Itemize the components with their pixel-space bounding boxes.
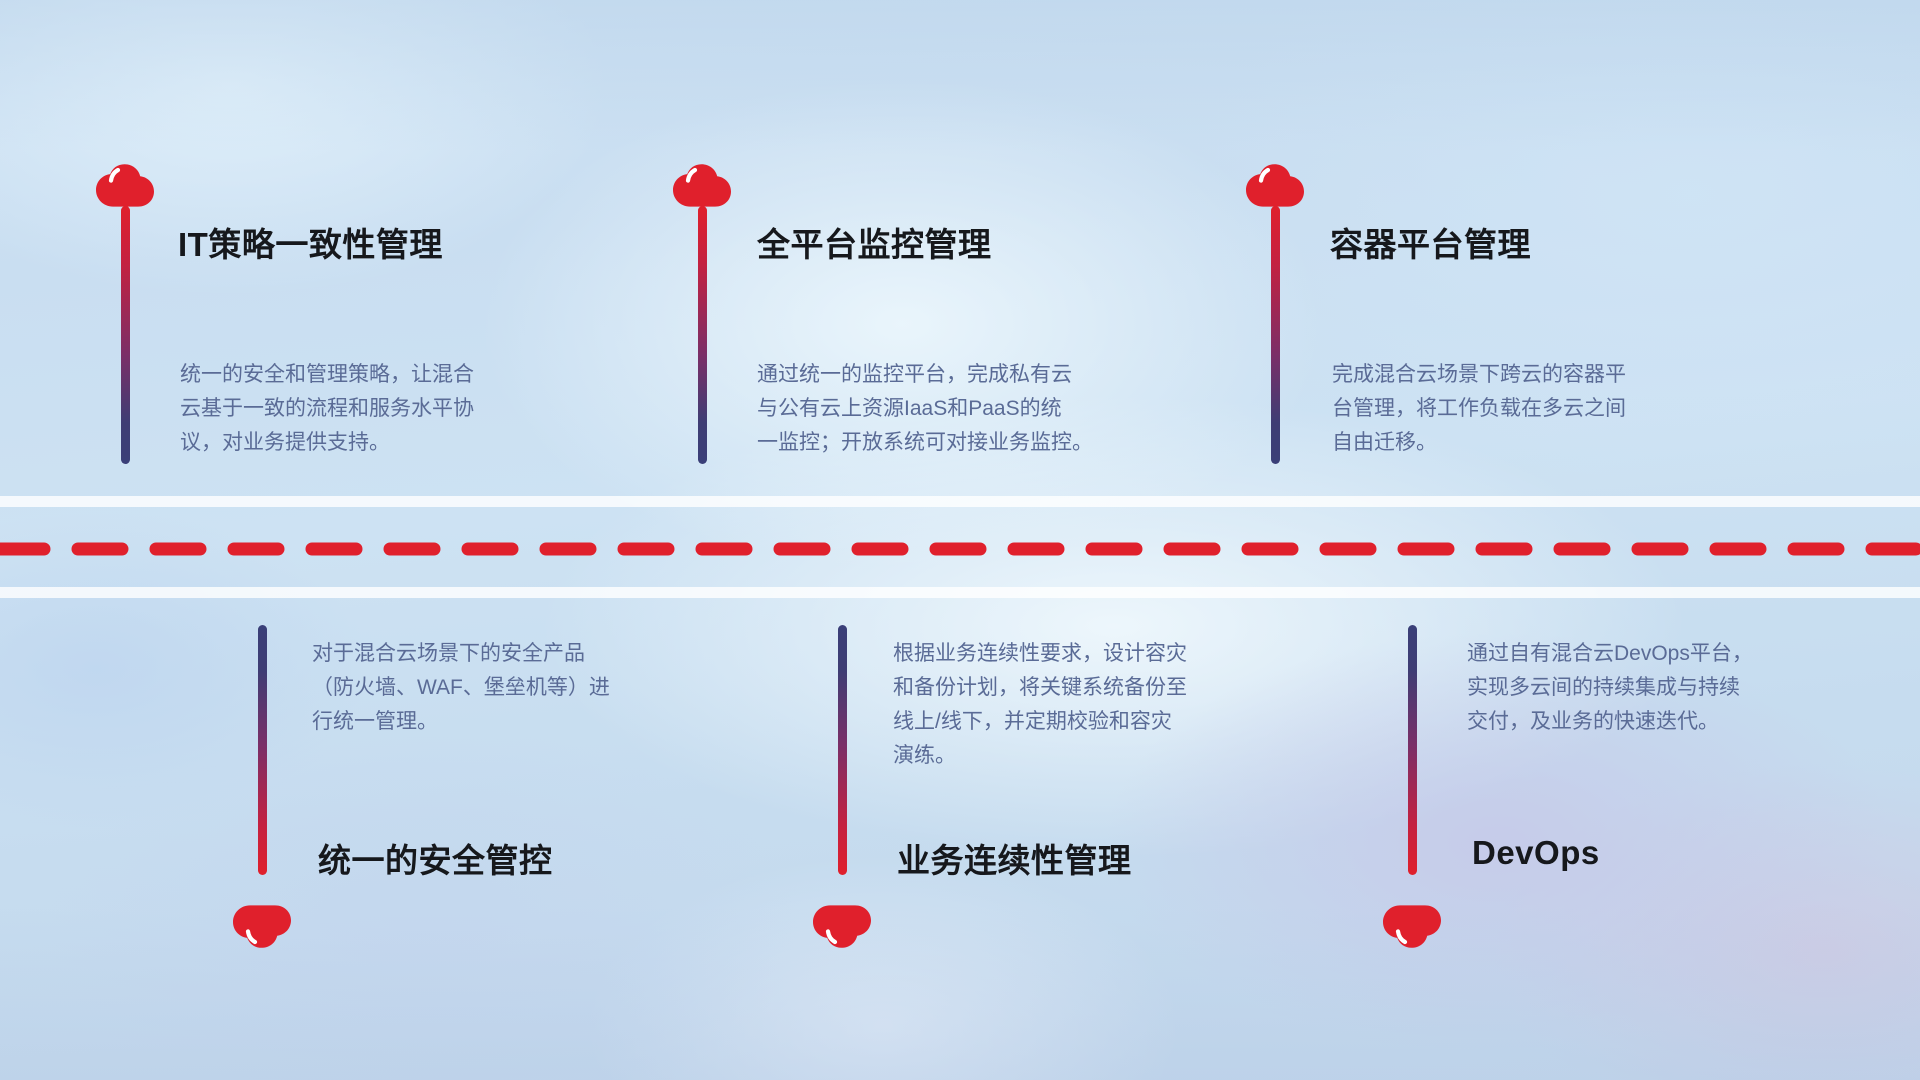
bottom-body-3: 通过自有混合云DevOps平台， 实现多云间的持续集成与持续 交付，及业务的快速… xyxy=(1467,637,1837,739)
bottom-heading-1: 统一的安全管控 xyxy=(318,834,553,882)
connector-line xyxy=(838,625,847,875)
body-line: 线上/线下，并定期校验和容灾 xyxy=(893,705,1263,739)
connector-line xyxy=(1408,625,1417,875)
body-line: 根据业务连续性要求，设计容灾 xyxy=(893,637,1263,671)
top-body-3: 完成混合云场景下跨云的容器平 台管理，将工作负载在多云之间 自由迁移。 xyxy=(1332,358,1702,460)
bottom-heading-2: 业务连续性管理 xyxy=(897,834,1132,882)
top-heading-1: IT策略一致性管理 xyxy=(178,218,443,266)
body-line: 台管理，将工作负载在多云之间 xyxy=(1332,392,1702,426)
divider-band-bottom xyxy=(0,587,1920,598)
body-line: 演练。 xyxy=(893,739,1263,773)
connector-line xyxy=(258,625,267,875)
connector-line xyxy=(121,206,130,464)
connector-line xyxy=(698,206,707,464)
top-body-1: 统一的安全和管理策略，让混合 云基于一致的流程和服务水平协 议，对业务提供支持。 xyxy=(180,358,550,460)
body-line: 完成混合云场景下跨云的容器平 xyxy=(1332,358,1702,392)
cloud-icon xyxy=(810,898,874,950)
connector-line xyxy=(1271,206,1280,464)
body-line: 通过统一的监控平台，完成私有云 xyxy=(757,358,1157,392)
body-line: （防火墙、WAF、堡垒机等）进 xyxy=(312,671,682,705)
bottom-heading-3: DevOps xyxy=(1472,834,1600,872)
body-line: 实现多云间的持续集成与持续 xyxy=(1467,671,1837,705)
top-body-2: 通过统一的监控平台，完成私有云 与公有云上资源IaaS和PaaS的统 一监控；开… xyxy=(757,358,1157,460)
cloud-icon xyxy=(1380,898,1444,950)
infographic-canvas: IT策略一致性管理 统一的安全和管理策略，让混合 云基于一致的流程和服务水平协 … xyxy=(0,0,1920,1080)
body-line: 云基于一致的流程和服务水平协 xyxy=(180,392,550,426)
body-line: 一监控；开放系统可对接业务监控。 xyxy=(757,426,1157,460)
body-line: 议，对业务提供支持。 xyxy=(180,426,550,460)
top-heading-2: 全平台监控管理 xyxy=(757,218,992,266)
divider-band-top xyxy=(0,496,1920,507)
body-line: 交付，及业务的快速迭代。 xyxy=(1467,705,1837,739)
body-line: 对于混合云场景下的安全产品 xyxy=(312,637,682,671)
cloud-icon xyxy=(230,898,294,950)
red-dashed-divider xyxy=(0,542,1920,556)
body-line: 行统一管理。 xyxy=(312,705,682,739)
body-line: 通过自有混合云DevOps平台， xyxy=(1467,637,1837,671)
bottom-body-1: 对于混合云场景下的安全产品 （防火墙、WAF、堡垒机等）进 行统一管理。 xyxy=(312,637,682,739)
top-heading-3: 容器平台管理 xyxy=(1330,218,1531,266)
body-line: 自由迁移。 xyxy=(1332,426,1702,460)
body-line: 统一的安全和管理策略，让混合 xyxy=(180,358,550,392)
bottom-body-2: 根据业务连续性要求，设计容灾 和备份计划，将关键系统备份至 线上/线下，并定期校… xyxy=(893,637,1263,773)
body-line: 和备份计划，将关键系统备份至 xyxy=(893,671,1263,705)
body-line: 与公有云上资源IaaS和PaaS的统 xyxy=(757,392,1157,426)
